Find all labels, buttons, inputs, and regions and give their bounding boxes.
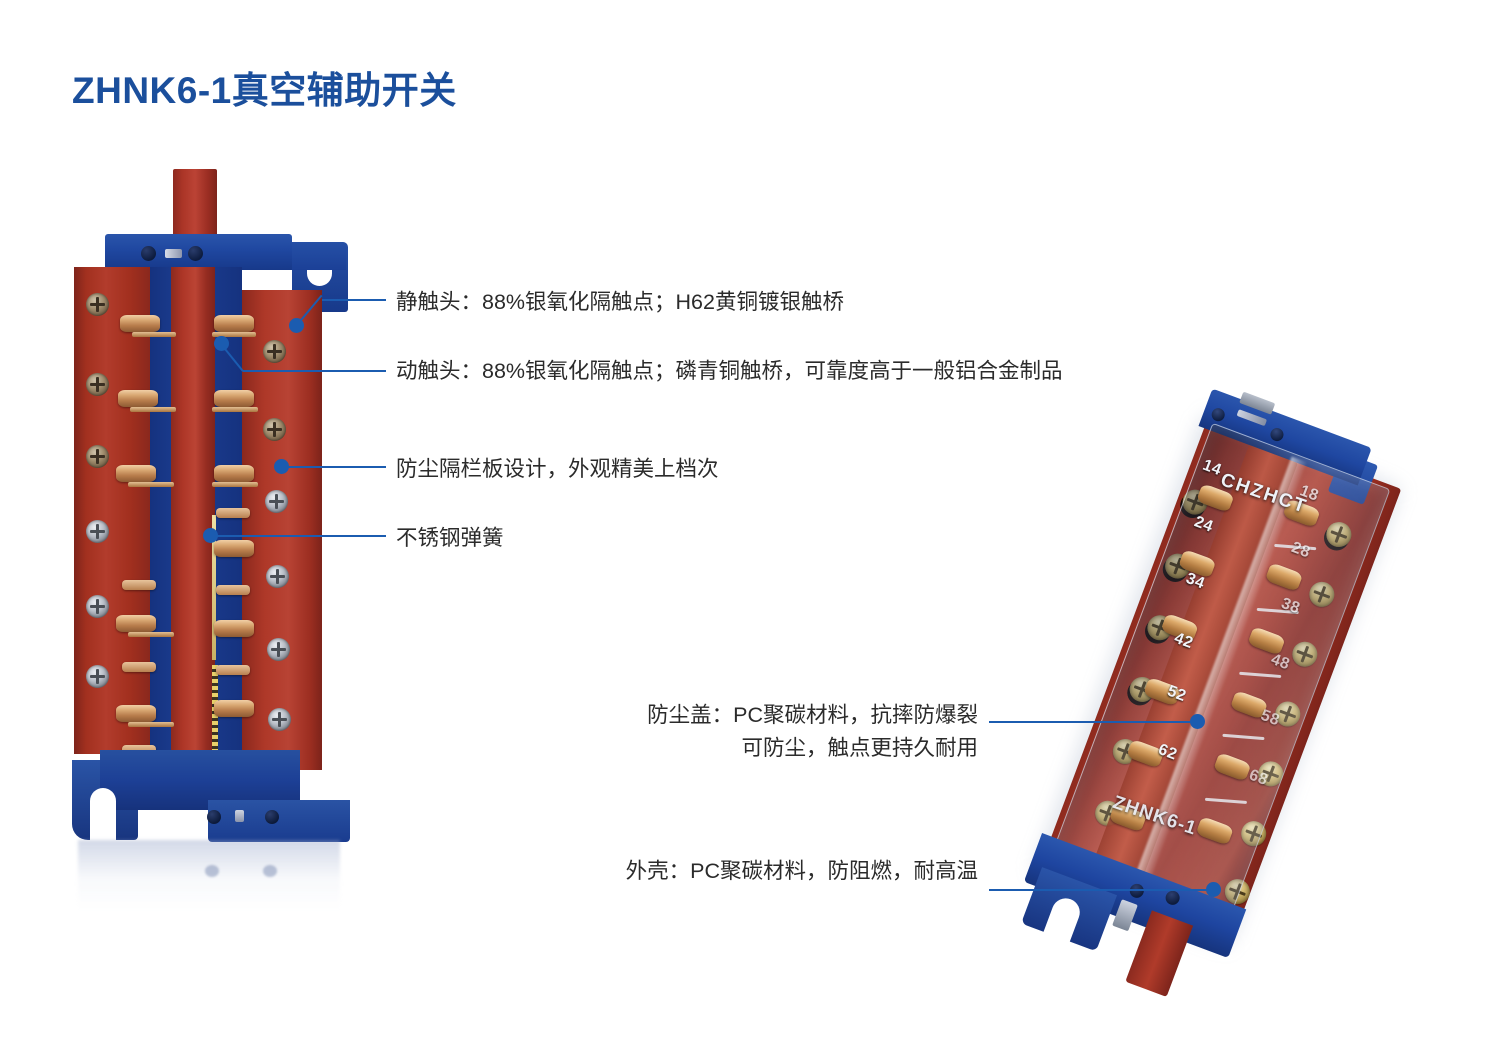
top-cap-screw-left — [141, 246, 156, 261]
static-contact-pad — [214, 315, 254, 332]
terminal-screw — [263, 340, 286, 363]
contact-bridge — [132, 332, 176, 337]
surface-reflection-spot — [263, 865, 277, 877]
top-cap-screw-right — [188, 246, 203, 261]
moving-contact-pad — [122, 580, 156, 590]
moving-contact-pad — [216, 585, 250, 595]
callout-label-stainless-spring: 不锈钢弹簧 — [396, 522, 504, 555]
static-contact-pad — [116, 705, 156, 722]
terminal-screw — [266, 565, 289, 588]
terminal-screw — [86, 445, 109, 468]
terminal-screw — [86, 595, 109, 618]
static-contact-pad — [214, 465, 254, 482]
callout-leader-dust-cover — [989, 721, 1194, 723]
callout-label-dust-cover-line2: 可防尘，触点更持久耐用 — [440, 732, 978, 765]
static-contact-pad — [116, 615, 156, 632]
static-contact-pad — [214, 620, 254, 637]
terminal-screw — [263, 418, 286, 441]
terminal-screw — [86, 665, 109, 688]
bottom-base-extension — [208, 800, 350, 842]
callout-leader-stainless-spring — [210, 535, 386, 537]
callout-leader-dust-barrier — [281, 466, 386, 468]
terminal-screw — [86, 520, 109, 543]
product-image-tilted-view: 14 24 34 42 52 62 18 28 38 48 58 68 CHZH… — [1055, 415, 1455, 980]
page-title: ZHNK6-1真空辅助开关 — [72, 60, 457, 114]
callout-label-dust-barrier: 防尘隔栏板设计，外观精美上档次 — [396, 453, 719, 486]
actuator-rod-top — [173, 169, 217, 239]
top-cap-marker — [165, 249, 182, 258]
callout-label-dust-cover-line1: 防尘盖：PC聚碳材料，抗摔防爆裂 — [440, 699, 978, 732]
center-pushrod — [171, 267, 215, 767]
product-feature-diagram: ZHNK6-1真空辅助开关 — [0, 0, 1500, 1041]
top-cap-extension — [292, 242, 346, 270]
static-contact-pad — [118, 390, 158, 407]
base-screw-left — [207, 810, 221, 824]
moving-contact-pad — [122, 662, 156, 672]
static-contact-pad — [214, 390, 254, 407]
terminal-screw — [265, 490, 288, 513]
contact-bridge — [128, 722, 174, 727]
base-marker — [235, 810, 244, 822]
terminal-screw — [268, 708, 291, 731]
contact-bridge — [212, 407, 258, 412]
static-contact-pad — [214, 540, 254, 557]
housing-left-pillar — [74, 267, 150, 754]
surface-reflection-spot — [205, 865, 219, 877]
terminal-screw — [86, 293, 109, 316]
callout-label-housing: 外壳：PC聚碳材料，防阻燃，耐高温 — [440, 855, 978, 888]
din-clip-bottom-notch — [90, 788, 116, 842]
static-contact-pad — [120, 315, 160, 332]
terminal-screw — [267, 638, 290, 661]
contact-bridge — [128, 632, 174, 637]
static-contact-pad — [214, 700, 254, 717]
callout-leader-static-contact-b — [322, 299, 386, 301]
callout-label-static-contact: 静触头：88%银氧化隔触点；H62黄铜镀银触桥 — [396, 286, 844, 319]
contact-bridge — [212, 482, 258, 487]
callout-leader-moving-contact-b — [243, 370, 386, 372]
callout-leader-housing — [989, 889, 1210, 891]
base-screw-right — [265, 810, 279, 824]
static-contact-pad — [116, 465, 156, 482]
moving-contact-pad — [216, 665, 250, 675]
contact-bridge — [130, 407, 176, 412]
housing-right-pillar — [242, 290, 322, 770]
callout-label-moving-contact: 动触头：88%银氧化隔触点；磷青铜触桥，可靠度高于一般铝合金制品 — [396, 355, 1063, 388]
contact-bridge — [128, 482, 174, 487]
callout-label-dust-cover: 防尘盖：PC聚碳材料，抗摔防爆裂 可防尘，触点更持久耐用 — [440, 699, 978, 766]
terminal-screw — [86, 373, 109, 396]
product-image-front-view — [60, 160, 390, 860]
moving-contact-pad — [216, 508, 250, 518]
